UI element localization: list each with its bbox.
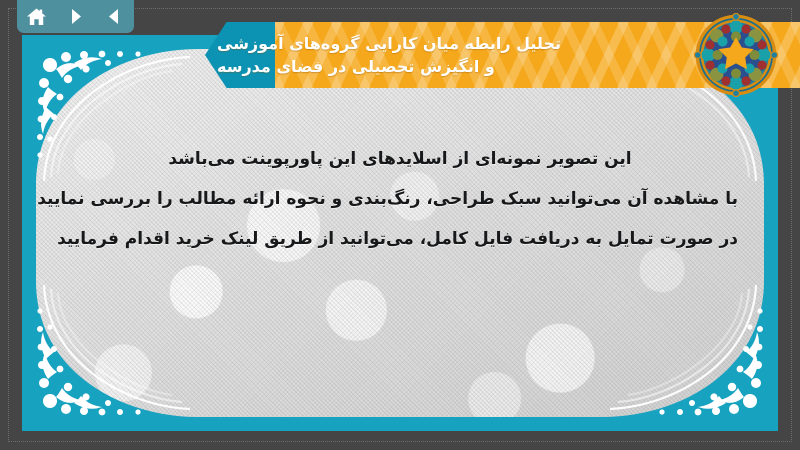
previous-slide-button[interactable]	[100, 2, 130, 32]
triangle-left-icon	[105, 7, 124, 26]
title-line-2: و انگیزش تحصیلی در فضای مدرسه	[217, 55, 495, 78]
slide-viewer: این تصویر نمونه‌ای از اسلایدهای این پاور…	[0, 0, 800, 450]
slide-body-text: این تصویر نمونه‌ای از اسلایدهای این پاور…	[62, 140, 738, 260]
body-line-3: در صورت تمایل به دریافت فایل کامل، می‌تو…	[62, 220, 738, 260]
title-line-1: تحلیل رابطه میان کارایی گروه‌های آموزشی	[217, 32, 561, 55]
slide-canvas: این تصویر نمونه‌ای از اسلایدهای این پاور…	[22, 35, 778, 431]
title-banner: تحلیل رابطه میان کارایی گروه‌های آموزشی …	[205, 22, 800, 88]
persian-medallion-ornament	[694, 13, 778, 97]
body-line-2: با مشاهده آن می‌توانید سبک طراحی، رنگ‌بن…	[62, 180, 738, 220]
body-line-1: این تصویر نمونه‌ای از اسلایدهای این پاور…	[62, 140, 738, 180]
home-icon	[26, 7, 47, 27]
navigation-bar	[17, 0, 134, 33]
home-button[interactable]	[22, 2, 52, 32]
next-slide-button[interactable]	[61, 2, 91, 32]
triangle-right-icon	[66, 7, 85, 26]
